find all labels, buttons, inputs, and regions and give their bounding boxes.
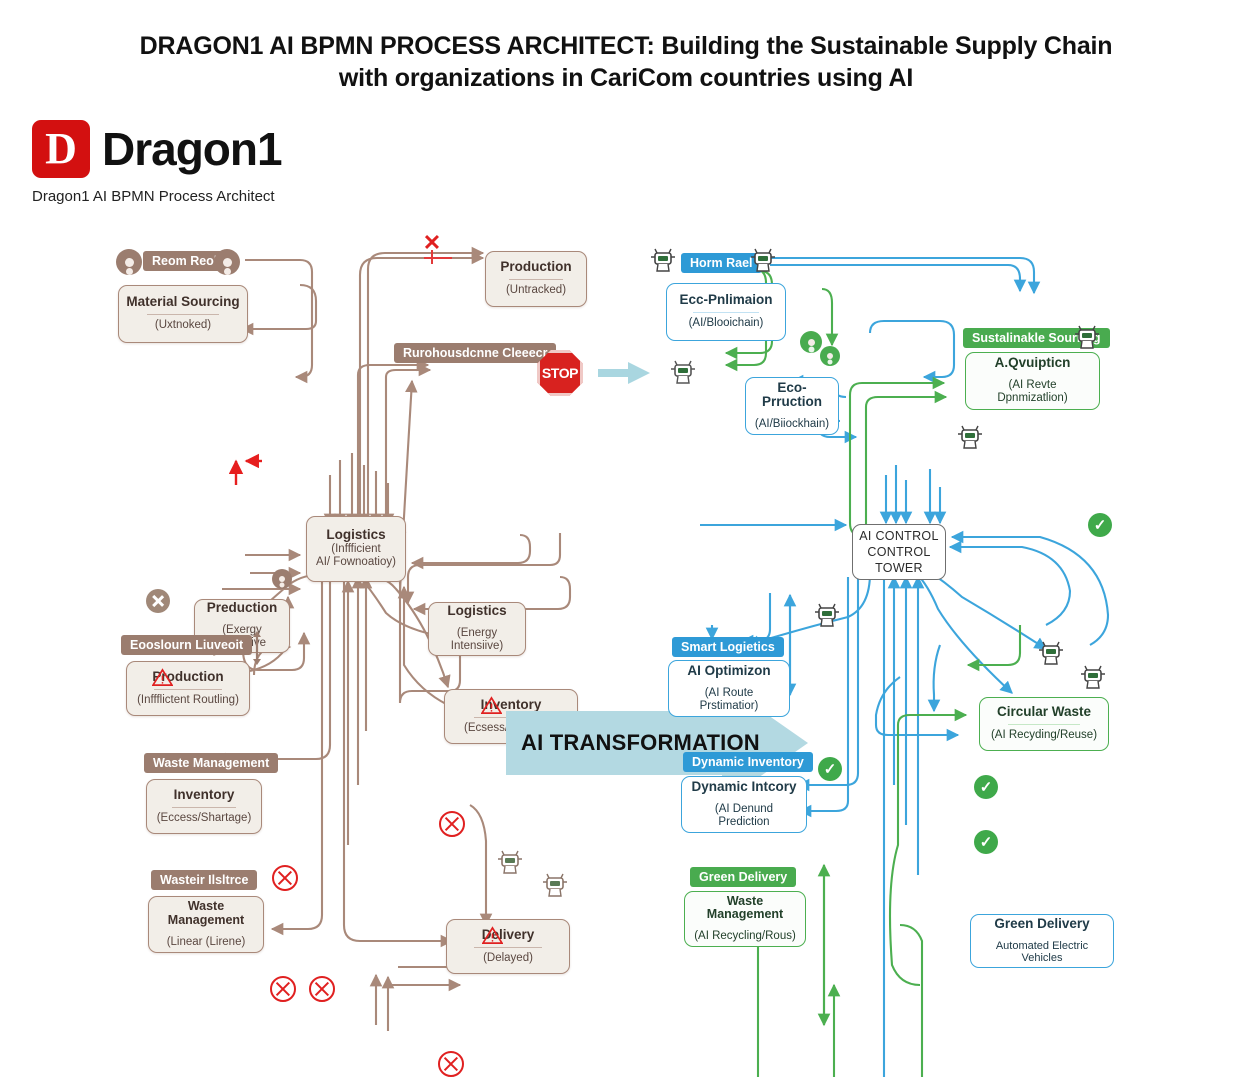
- divider: [509, 279, 564, 280]
- error-cross-icon: [270, 976, 296, 1002]
- legacy-delivery[interactable]: Delivery (Delayed): [446, 919, 570, 974]
- brand-subtitle: Dragon1 AI BPMN Process Architect: [32, 188, 282, 205]
- node-subtitle: (Inffflictent Routling): [137, 694, 239, 707]
- node-subtitle: (AI Recycling/Rous): [694, 930, 796, 943]
- error-cross-icon: [439, 811, 465, 837]
- node-subtitle: (AI Denund Prediction: [688, 803, 800, 829]
- node-title: Production: [500, 260, 571, 275]
- node-subtitle: Automated Electric Vehicles: [977, 940, 1107, 965]
- lane-green-delivery: Green Delivery: [690, 867, 796, 887]
- check-icon: ✓: [974, 830, 998, 854]
- robot-icon: [540, 873, 570, 901]
- node-title: A.Qvuipticn: [995, 356, 1071, 371]
- person-icon: [272, 569, 292, 589]
- person-icon: [820, 346, 840, 366]
- node-subtitle: (Inffficient: [331, 543, 380, 556]
- node-subtitle: (Eccess/Shartage): [157, 812, 252, 825]
- robot-icon: [955, 425, 985, 453]
- node-subtitle: (AI/Blooichain): [689, 317, 764, 330]
- error-cross-icon: [438, 1051, 464, 1077]
- node-subtitle: (AI Route Prstimatior): [675, 687, 783, 713]
- cross-icon: [146, 589, 170, 613]
- brand-wordmark: Dragon1: [102, 122, 282, 176]
- node-subtitle: (Untracked): [506, 284, 566, 297]
- lane-waste-management: Waste Management: [144, 753, 278, 773]
- node-subtitle: (Linear (Lirene): [167, 936, 246, 949]
- control-tower-line-2: CONTROL: [867, 544, 930, 560]
- node-title: Circular Waste: [997, 705, 1091, 720]
- robot-icon: [668, 360, 698, 388]
- dragon1-logo-icon: D: [32, 120, 90, 178]
- node-title: Eco-Prruction: [752, 381, 832, 411]
- node-title: Waste Management: [691, 895, 799, 923]
- node-subtitle: (Energy Intensiive): [435, 627, 519, 653]
- node-subtitle: (Delayed): [483, 952, 533, 965]
- check-icon: ✓: [818, 757, 842, 781]
- robot-icon: [748, 248, 778, 276]
- legacy-production-routing[interactable]: Production (Inffflictent Routling): [126, 661, 250, 716]
- stop-sign-icon: STOP: [537, 350, 583, 396]
- bpmn-diagram-canvas: Reom Reol Material Sourcing (Uxtnoked) P…: [0, 225, 1252, 1010]
- title-line-2: with organizations in CariCom countries …: [0, 62, 1252, 94]
- robot-icon: [495, 850, 525, 878]
- robot-icon: [812, 603, 842, 631]
- warning-triangle-icon: [152, 668, 173, 687]
- modern-sustainable-sourcing[interactable]: A.Qvuipticn (AI Revte Dpnmizatlion): [965, 352, 1100, 410]
- control-tower-line-1: AI CONTROL: [859, 528, 938, 544]
- check-icon: ✓: [1088, 513, 1112, 537]
- divider: [172, 807, 235, 808]
- modern-green-delivery[interactable]: Green Delivery Automated Electric Vehicl…: [970, 914, 1114, 968]
- node-title: Green Delivery: [994, 917, 1089, 932]
- node-subtitle: (AI Recyding/Reuse): [991, 729, 1097, 742]
- modern-eco-production[interactable]: Eco-Prruction (AI/Biiockhain): [745, 377, 839, 435]
- error-cross-icon: [272, 865, 298, 891]
- divider: [474, 947, 542, 948]
- robot-icon: [1072, 325, 1102, 353]
- legacy-logistics-core[interactable]: Logistics (Inffficient AI/ Fownoatioy): [306, 516, 406, 582]
- divider: [147, 314, 219, 315]
- node-subtitle-2: AI/ Fownoatioy): [316, 556, 396, 569]
- modern-control-tower[interactable]: AI CONTROL CONTROL TOWER: [852, 524, 946, 580]
- vertical-double-arrow-icon: [250, 631, 264, 665]
- modern-dynamic-inventory[interactable]: Dynamic Intcory (AI Denund Prediction: [681, 776, 807, 833]
- node-subtitle: (Uxtnoked): [155, 319, 211, 332]
- legacy-inventory-waste[interactable]: Inventory (Eccess/Shartage): [146, 779, 262, 834]
- node-subtitle: (AI Revte Dpnmizatlion): [972, 379, 1093, 405]
- node-title: AI Optimizon: [687, 664, 770, 679]
- person-icon: [116, 249, 142, 275]
- legacy-production-untracked[interactable]: Production (Untracked): [485, 251, 587, 307]
- red-x-icon: ✕: [423, 230, 441, 256]
- person-icon: [800, 331, 822, 353]
- divider: [693, 312, 759, 313]
- modern-smart-logistics[interactable]: AI Optimizon (AI Route Prstimatior): [668, 660, 790, 717]
- lane-waste-culture: Wasteir Ilsltrce: [151, 870, 257, 890]
- node-title: Logistics: [447, 604, 506, 619]
- lane-dynamic-inventory: Dynamic Inventory: [683, 752, 813, 772]
- node-title: Material Sourcing: [126, 295, 239, 310]
- control-tower-line-3: TOWER: [875, 560, 923, 576]
- person-icon: [214, 249, 240, 275]
- modern-eco-procurement[interactable]: Ecc-Pnlimaion (AI/Blooichain): [666, 283, 786, 341]
- arrow-right-icon: [598, 360, 652, 386]
- node-title: Waste Management: [155, 900, 257, 928]
- brand-logo: D Dragon1 Dragon1 AI BPMN Process Archit…: [32, 120, 282, 205]
- node-title: Ecc-Pnlimaion: [679, 293, 772, 308]
- node-title: Preduction: [207, 601, 278, 616]
- modern-waste-management[interactable]: Waste Management (AI Recycling/Rous): [684, 891, 806, 947]
- node-title: Dynamic Intcory: [691, 780, 796, 795]
- robot-icon: [1078, 665, 1108, 693]
- lane-smart-logistics: Smart Logietics: [672, 637, 784, 657]
- legacy-material-sourcing[interactable]: Material Sourcing (Uxtnoked): [118, 285, 248, 343]
- node-title: Logistics: [326, 528, 385, 543]
- node-title: Inventory: [174, 788, 235, 803]
- lane-ecosystem: Eooslourn Liuveoit: [121, 635, 252, 655]
- robot-icon: [1036, 641, 1066, 669]
- title-line-1: DRAGON1 AI BPMN PROCESS ARCHITECT: Build…: [0, 30, 1252, 62]
- warning-triangle-icon: [482, 926, 503, 945]
- check-icon: ✓: [974, 775, 998, 799]
- error-cross-icon: [309, 976, 335, 1002]
- node-subtitle: (AI/Biiockhain): [755, 418, 829, 431]
- modern-circular-waste[interactable]: Circular Waste (AI Recyding/Reuse): [979, 697, 1109, 751]
- robot-icon: [648, 248, 678, 276]
- lane-warehouse: Rurohousdcnne Cleeecr: [394, 343, 556, 363]
- divider: [154, 689, 222, 690]
- page-title: DRAGON1 AI BPMN PROCESS ARCHITECT: Build…: [0, 30, 1252, 94]
- warning-triangle-icon: [481, 696, 502, 715]
- divider: [1008, 724, 1080, 725]
- legacy-waste-management[interactable]: Waste Management (Linear (Lirene): [148, 896, 264, 953]
- legacy-logistics-energy[interactable]: Logistics (Energy Intensiive): [428, 602, 526, 656]
